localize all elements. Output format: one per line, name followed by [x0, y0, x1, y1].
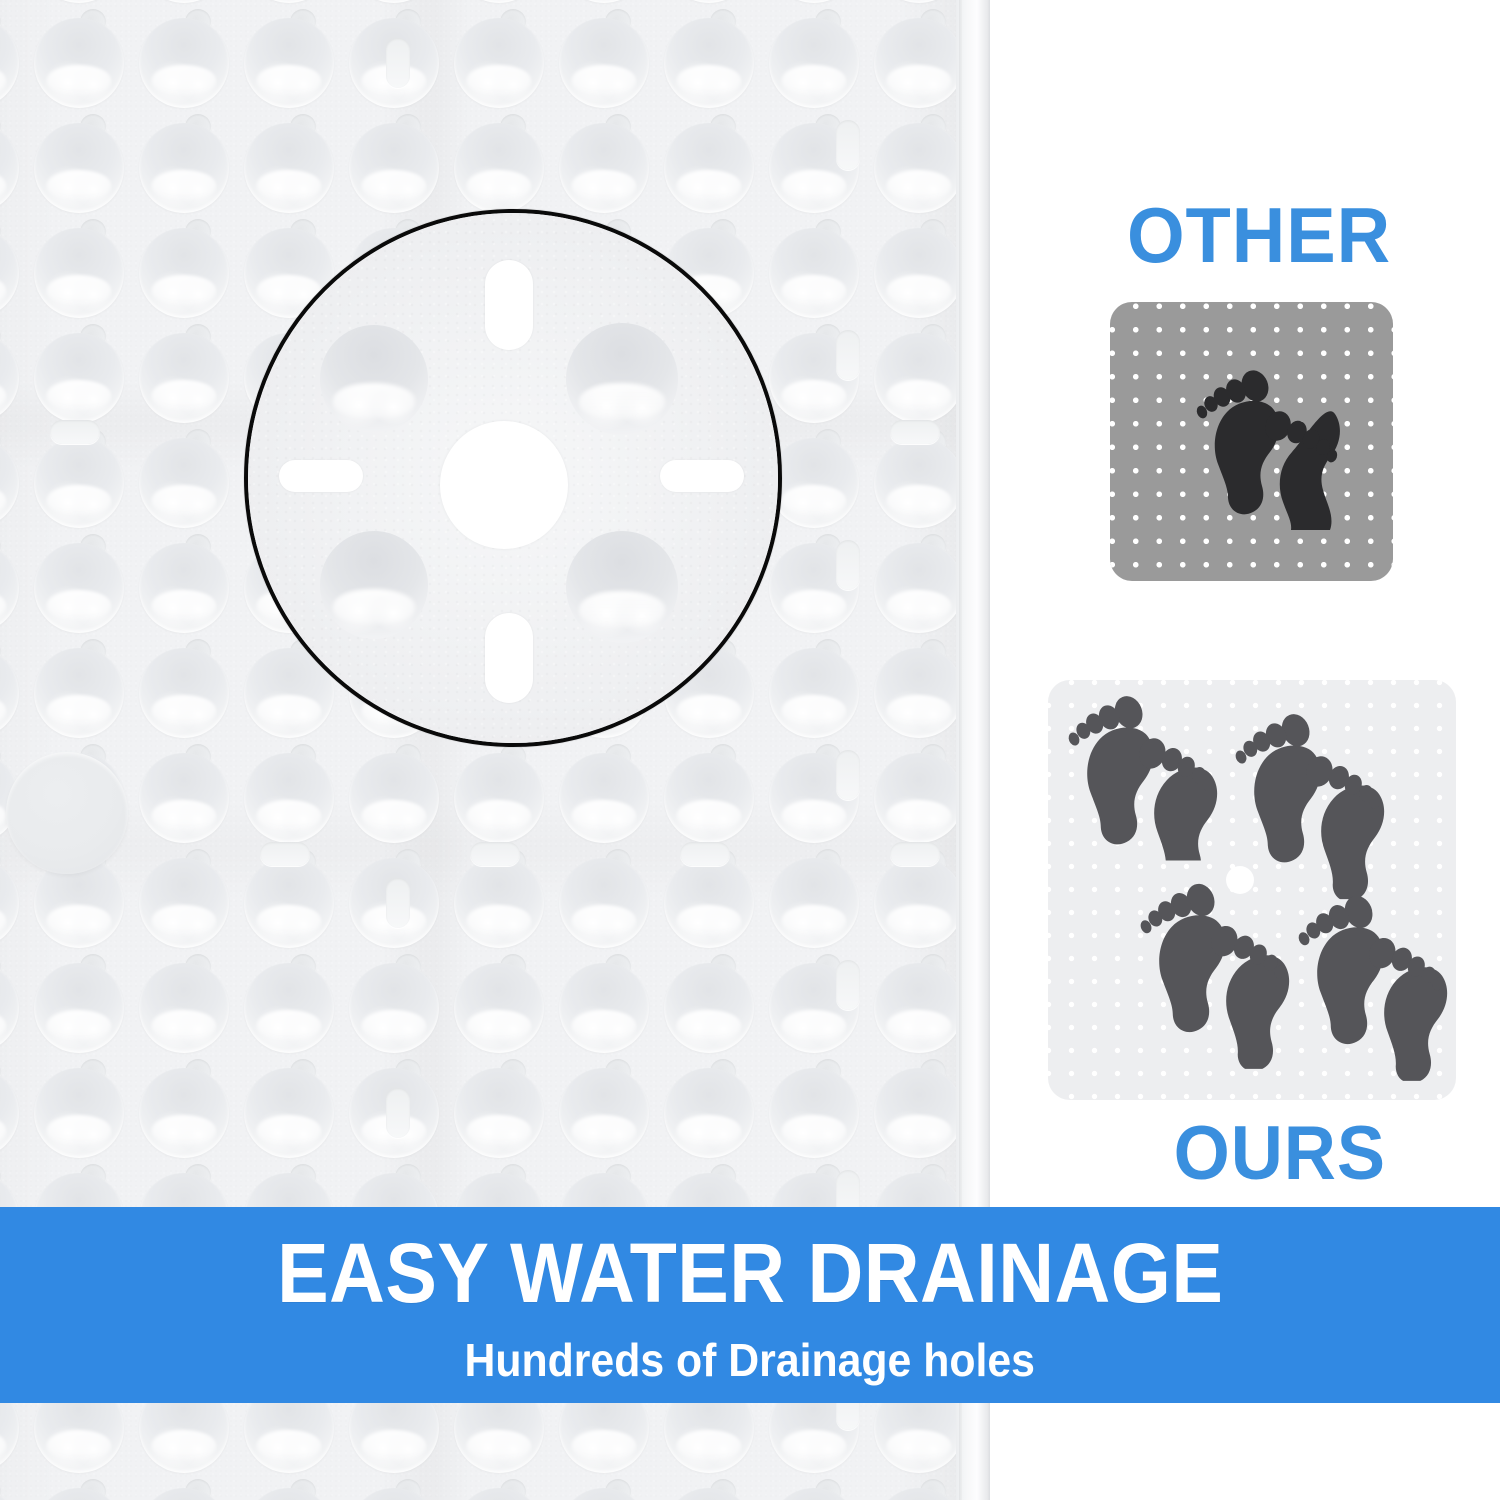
mat-suction-bump [139, 858, 229, 948]
mat-drainage-slot [890, 842, 940, 866]
mat-suction-bump [0, 543, 19, 633]
mat-thumbnail-other [1110, 302, 1393, 581]
mat-suction-bump [0, 648, 19, 738]
mat-suction-bump [349, 0, 439, 3]
mat-suction-bump [244, 0, 334, 3]
mat-drainage-slot [470, 842, 520, 866]
mat-suction-bump [139, 1488, 229, 1500]
mat-suction-bump [34, 1488, 124, 1500]
mat-suction-bump [874, 1068, 964, 1158]
mat-suction-bump [0, 18, 19, 108]
mat-drainage-slot [836, 120, 860, 170]
mat-suction-bump [139, 1068, 229, 1158]
mat-suction-bump [139, 228, 229, 318]
mat-drainage-slot [680, 842, 730, 866]
mat-suction-bump [454, 0, 544, 3]
mat-suction-bump [874, 123, 964, 213]
mat-suction-bump [139, 333, 229, 423]
footprint-pair-other [1192, 360, 1342, 530]
magnified-slot-east [660, 460, 744, 492]
mat-suction-bump [454, 1068, 544, 1158]
mat-suction-bump [244, 1488, 334, 1500]
mat-suction-bump [874, 753, 964, 843]
mat-suction-bump [34, 543, 124, 633]
mat-suction-bump [769, 228, 859, 318]
mat-suction-bump [664, 1068, 754, 1158]
mat-thumbnail-ours [1048, 680, 1456, 1100]
mat-suction-bump [769, 0, 859, 3]
drainage-hole-magnifier [244, 209, 782, 747]
mat-suction-bump [349, 963, 439, 1053]
footprint-pair-ours-3 [1136, 873, 1291, 1069]
mat-suction-bump [34, 438, 124, 528]
mat-suction-bump [139, 963, 229, 1053]
mat-drainage-slot [386, 1088, 410, 1138]
mat-suction-bump [559, 1488, 649, 1500]
magnified-slot-west [279, 460, 363, 492]
magnified-slot-north [485, 260, 533, 350]
mat-suction-bump [34, 1068, 124, 1158]
magnified-bump-sw [320, 531, 428, 639]
mat-suction-bump [0, 228, 19, 318]
mat-drainage-slot [836, 330, 860, 380]
footprint-pair-ours-2 [1231, 703, 1386, 878]
mat-suction-bump [559, 123, 649, 213]
mat-suction-bump [874, 543, 964, 633]
mat-drainage-slot [836, 960, 860, 1010]
mat-suction-bump [34, 648, 124, 738]
mat-suction-bump [139, 648, 229, 738]
mat-suction-bump [139, 438, 229, 528]
mat-suction-bump [0, 1488, 19, 1500]
mat-suction-bump [454, 123, 544, 213]
mat-suction-bump [769, 18, 859, 108]
mat-suction-bump [244, 963, 334, 1053]
mat-suction-bump [664, 0, 754, 3]
mat-suction-bump [34, 963, 124, 1053]
mat-suction-bump [874, 18, 964, 108]
comparison-label-ours: OURS [1174, 1116, 1386, 1192]
mat-suction-bump [559, 0, 649, 3]
mat-suction-bump [874, 438, 964, 528]
mat-suction-bump [874, 228, 964, 318]
mat-drainage-slot [386, 878, 410, 928]
mat-suction-bump [139, 753, 229, 843]
mat-suction-bump [139, 123, 229, 213]
footprint-pair-ours-1 [1064, 685, 1219, 860]
feature-banner: EASY WATER DRAINAGE Hundreds of Drainage… [0, 1207, 1500, 1403]
mat-suction-bump [244, 858, 334, 948]
mat-suction-bump [34, 0, 124, 3]
mat-suction-bump [769, 1488, 859, 1500]
banner-title: EASY WATER DRAINAGE [277, 1231, 1223, 1315]
magnified-bump-se [566, 531, 678, 643]
mat-drainage-slot [836, 750, 860, 800]
mat-suction-bump [874, 1488, 964, 1500]
suction-disc [6, 752, 128, 874]
mat-suction-bump [244, 18, 334, 108]
mat-suction-bump [34, 18, 124, 108]
mat-drainage-slot [386, 38, 410, 88]
mat-suction-bump [34, 228, 124, 318]
mat-suction-bump [664, 123, 754, 213]
mat-suction-bump [874, 963, 964, 1053]
magnified-bump-nw [320, 325, 428, 433]
mat-suction-bump [454, 753, 544, 843]
mat-drainage-slot [836, 540, 860, 590]
magnified-bump-ne [566, 323, 678, 435]
magnified-drainage-hole [440, 421, 568, 549]
mat-suction-bump [664, 963, 754, 1053]
mat-suction-bump [769, 858, 859, 948]
mat-suction-bump [454, 1488, 544, 1500]
mat-suction-bump [769, 1068, 859, 1158]
mat-suction-bump [874, 858, 964, 948]
mat-suction-bump [34, 123, 124, 213]
magnified-slot-south [485, 613, 533, 703]
mat-suction-bump [244, 1068, 334, 1158]
mat-suction-bump [559, 18, 649, 108]
mat-suction-bump [559, 858, 649, 948]
mat-suction-bump [664, 858, 754, 948]
comparison-label-other: OTHER [1127, 196, 1391, 274]
mat-suction-bump [559, 1068, 649, 1158]
mat-suction-bump [139, 543, 229, 633]
mat-suction-bump [664, 18, 754, 108]
mat-suction-bump [559, 753, 649, 843]
mat-suction-bump [349, 753, 439, 843]
mat-suction-bump [349, 1488, 439, 1500]
mat-suction-bump [0, 858, 19, 948]
mat-suction-bump [454, 858, 544, 948]
mat-suction-bump [0, 1068, 19, 1158]
mat-suction-bump [34, 333, 124, 423]
footprint-pair-ours-4 [1294, 885, 1449, 1081]
mat-suction-bump [139, 0, 229, 3]
mat-suction-bump [139, 18, 229, 108]
mat-suction-bump [664, 1488, 754, 1500]
mat-suction-bump [0, 333, 19, 423]
mat-suction-bump [769, 438, 859, 528]
mat-drainage-slot [50, 420, 100, 444]
mat-suction-bump [0, 123, 19, 213]
banner-subtitle: Hundreds of Drainage holes [465, 1337, 1035, 1383]
mat-suction-bump [244, 753, 334, 843]
mat-drainage-slot [260, 842, 310, 866]
mat-suction-bump [0, 963, 19, 1053]
mat-suction-bump [244, 123, 334, 213]
mat-suction-bump [349, 123, 439, 213]
mat-suction-bump [769, 648, 859, 738]
mat-suction-bump [454, 963, 544, 1053]
mat-suction-bump [454, 18, 544, 108]
mat-drainage-slot [890, 420, 940, 444]
mat-suction-bump [874, 333, 964, 423]
mat-suction-bump [874, 648, 964, 738]
mat-suction-bump [0, 0, 19, 3]
mat-suction-bump [559, 963, 649, 1053]
mat-suction-bump [664, 753, 754, 843]
product-feature-image: OTHER [0, 0, 1500, 1500]
mat-suction-bump [0, 438, 19, 528]
mat-suction-bump [874, 0, 964, 3]
